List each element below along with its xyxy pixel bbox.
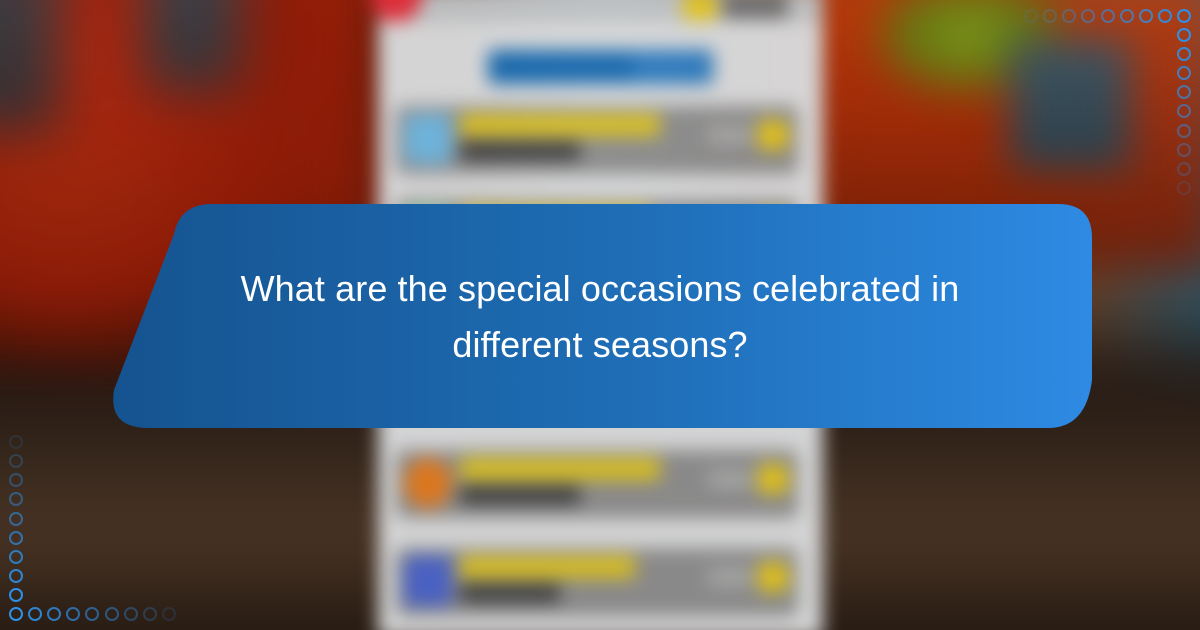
background-row-coin bbox=[758, 562, 788, 592]
decor-circle-icon bbox=[9, 607, 23, 621]
decor-circle-icon bbox=[1024, 9, 1038, 23]
decor-circle-icon bbox=[124, 607, 138, 621]
decor-dots-bottom-left-column bbox=[6, 432, 25, 605]
decor-circle-icon bbox=[9, 550, 23, 564]
background-train-window bbox=[0, 0, 60, 130]
decor-circle-icon bbox=[1177, 66, 1191, 80]
decor-circle-icon bbox=[1177, 104, 1191, 118]
background-row-icon bbox=[404, 458, 452, 508]
decor-dots-bottom-left-row bbox=[6, 605, 179, 624]
decor-circle-icon bbox=[1043, 9, 1057, 23]
question-text-container: What are the special occasions celebrate… bbox=[96, 198, 1104, 436]
decor-circle-icon bbox=[105, 607, 119, 621]
decor-circle-icon bbox=[1139, 9, 1153, 23]
decor-circle-icon bbox=[1177, 162, 1191, 176]
decor-circle-icon bbox=[1120, 9, 1134, 23]
background-row-title bbox=[460, 556, 635, 578]
background-list-row bbox=[396, 450, 798, 518]
background-row-coin bbox=[758, 464, 788, 494]
question-card: What are the special occasions celebrate… bbox=[96, 198, 1104, 436]
decor-circle-icon bbox=[9, 473, 23, 487]
background-row-subtitle bbox=[460, 486, 580, 504]
background-row-pill bbox=[708, 568, 752, 586]
background-row-icon bbox=[404, 556, 452, 606]
background-coin-counter bbox=[722, 0, 788, 18]
decor-circle-icon bbox=[9, 569, 23, 583]
decor-circle-icon bbox=[9, 454, 23, 468]
background-train-window bbox=[145, 0, 240, 90]
decor-circle-icon bbox=[162, 607, 176, 621]
decor-circle-icon bbox=[1177, 124, 1191, 138]
decor-circle-icon bbox=[1062, 9, 1076, 23]
decor-circle-icon bbox=[1177, 181, 1191, 195]
screenshot-root: What are the special occasions celebrate… bbox=[0, 0, 1200, 630]
background-row-icon bbox=[404, 114, 452, 164]
decor-circle-icon bbox=[1081, 9, 1095, 23]
background-list-row bbox=[396, 106, 798, 174]
decor-circle-icon bbox=[85, 607, 99, 621]
background-panel-title-part bbox=[633, 52, 711, 82]
background-row-pill bbox=[708, 126, 752, 144]
decor-circle-icon bbox=[143, 607, 157, 621]
background-coin-icon bbox=[683, 0, 717, 20]
decor-circle-icon bbox=[47, 607, 61, 621]
decor-circle-icon bbox=[9, 588, 23, 602]
background-train-window bbox=[1010, 40, 1130, 170]
decor-circle-icon bbox=[66, 607, 80, 621]
decor-circle-icon bbox=[1177, 143, 1191, 157]
background-row-subtitle bbox=[460, 142, 580, 160]
background-list-row bbox=[396, 548, 798, 616]
decor-dots-top-right-column bbox=[1175, 25, 1194, 198]
background-row-title bbox=[460, 458, 660, 480]
decor-circle-icon bbox=[1177, 9, 1191, 23]
question-text: What are the special occasions celebrate… bbox=[200, 261, 1000, 373]
background-row-pill bbox=[708, 470, 752, 488]
decor-circle-icon bbox=[1177, 28, 1191, 42]
decor-circle-icon bbox=[9, 435, 23, 449]
decor-circle-icon bbox=[9, 531, 23, 545]
background-row-subtitle bbox=[460, 584, 560, 602]
background-row-title bbox=[460, 114, 660, 136]
background-row-coin bbox=[758, 120, 788, 150]
decor-circle-icon bbox=[28, 607, 42, 621]
decor-dots-top-right-row bbox=[1021, 6, 1194, 25]
decor-circle-icon bbox=[9, 512, 23, 526]
decor-circle-icon bbox=[1177, 47, 1191, 61]
decor-circle-icon bbox=[1158, 9, 1172, 23]
decor-circle-icon bbox=[9, 492, 23, 506]
decor-circle-icon bbox=[1177, 85, 1191, 99]
decor-circle-icon bbox=[1101, 9, 1115, 23]
